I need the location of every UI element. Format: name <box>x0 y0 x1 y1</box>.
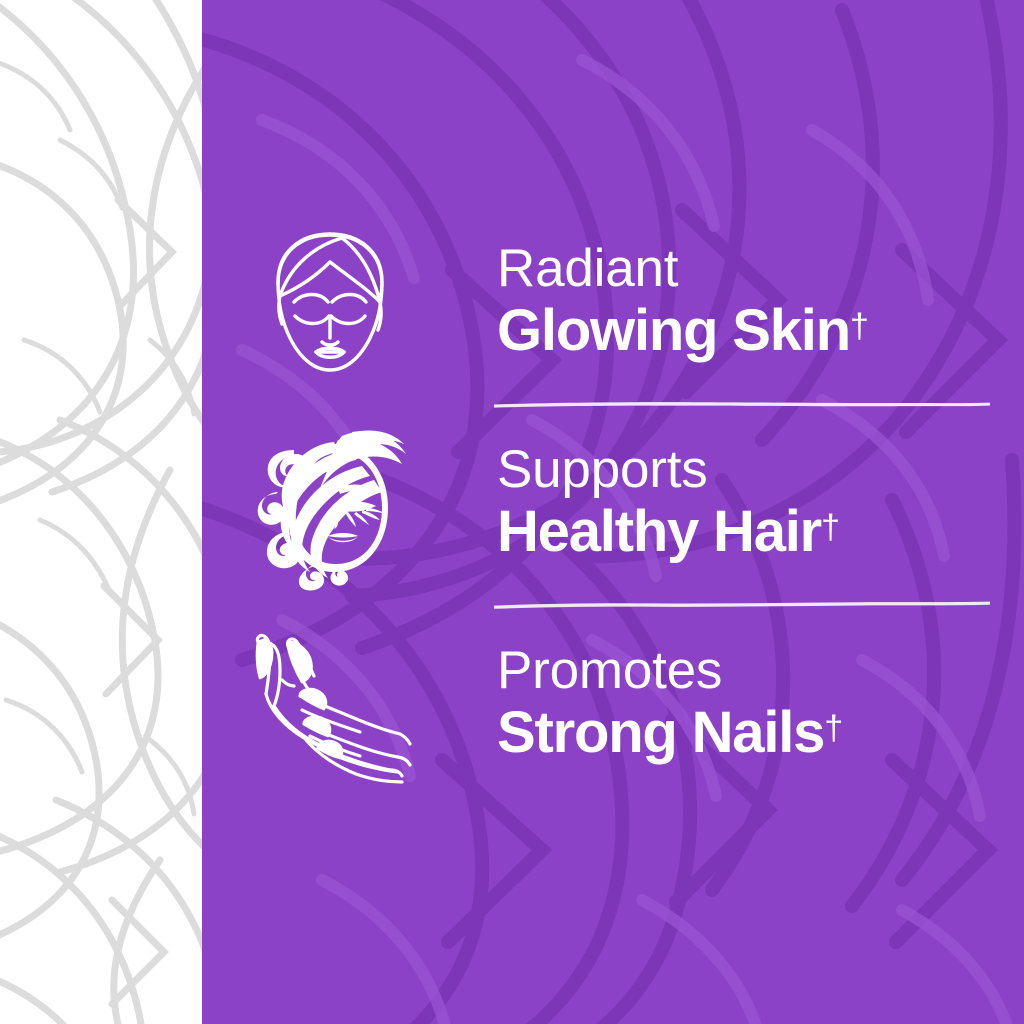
benefit-text-strong-nails: Promotes Strong Nails† <box>457 644 1024 763</box>
benefit-line-bottom: Healthy Hair† <box>497 501 1004 562</box>
flowing-hair-icon <box>202 404 457 602</box>
purple-content-panel: Radiant Glowing Skin† <box>202 0 1024 1024</box>
benefit-line-top: Radiant <box>497 242 1004 295</box>
footnote-dagger: † <box>850 308 869 346</box>
womans-face-icon <box>202 202 457 402</box>
benefit-line-bottom: Glowing Skin† <box>497 300 1004 361</box>
swirl-texture-white <box>0 0 202 1024</box>
benefit-divider-2 <box>492 596 992 612</box>
benefit-text-glowing-skin: Radiant Glowing Skin† <box>457 242 1024 361</box>
hand-nails-icon <box>202 604 457 804</box>
footnote-dagger: † <box>824 710 843 748</box>
benefit-line-top: Promotes <box>497 644 1004 697</box>
footnote-dagger: † <box>821 509 840 547</box>
left-texture-panel <box>0 0 202 1024</box>
product-benefits-graphic: Radiant Glowing Skin† <box>0 0 1024 1024</box>
benefit-line-bottom: Strong Nails† <box>497 702 1004 763</box>
benefit-line-top: Supports <box>497 443 1004 496</box>
benefit-divider-1 <box>492 396 992 412</box>
benefit-row-strong-nails: Promotes Strong Nails† <box>202 604 1024 804</box>
benefit-text-healthy-hair: Supports Healthy Hair† <box>457 443 1024 562</box>
benefit-row-glowing-skin: Radiant Glowing Skin† <box>202 202 1024 402</box>
benefits-list: Radiant Glowing Skin† <box>202 0 1024 1024</box>
benefit-row-healthy-hair: Supports Healthy Hair† <box>202 404 1024 602</box>
